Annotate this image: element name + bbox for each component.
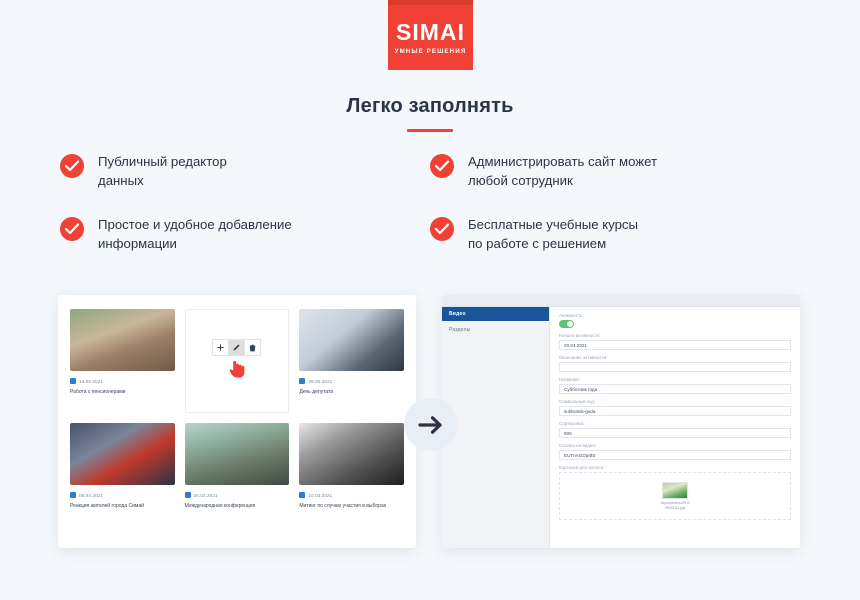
news-item[interactable]: 06.04.2021 Реакция жителей города Симай (70, 423, 175, 510)
news-thumbnail (70, 423, 175, 485)
news-date: 26.03.2021 (194, 493, 218, 498)
uploaded-image-thumbnail (662, 482, 688, 499)
news-date: 10.03.2021 (308, 493, 332, 498)
form-field-activity-start: Начало активности: 20.04.2021 (559, 333, 791, 350)
activity-start-input[interactable]: 20.04.2021 (559, 340, 791, 350)
news-title: День депутата (299, 389, 404, 396)
sort-input[interactable]: 500 (559, 428, 791, 438)
features-list: Публичный редактор данных Простое и удоб… (0, 152, 860, 267)
delete-item-button[interactable] (244, 339, 261, 356)
features-column-left: Публичный редактор данных Простое и удоб… (60, 152, 390, 279)
logo-tagline: УМНЫЕ РЕШЕНИЯ (395, 48, 467, 55)
news-item[interactable]: 26.03.2021 Международная конференция (185, 423, 290, 510)
news-date: 06.04.2021 (79, 493, 103, 498)
news-item[interactable]: 10.03.2021 Митинг по случаю участия в вы… (299, 423, 404, 510)
news-thumbnail (299, 423, 404, 485)
news-meta: 06.04.2021 (70, 492, 175, 498)
feature-label: Простое и удобное добавление информации (98, 215, 292, 253)
news-title: Работа с пенсионерами (70, 389, 175, 396)
title-underline (407, 129, 453, 132)
news-date: 14.06.2021 (79, 379, 103, 384)
feature-item: Простое и удобное добавление информации (60, 215, 390, 253)
feature-label: Администрировать сайт может любой сотруд… (468, 152, 657, 190)
news-meta: 10.03.2021 (299, 492, 404, 498)
calendar-icon (70, 492, 76, 498)
news-meta: 14.06.2021 (70, 378, 175, 384)
field-label: Ссылка на видео: (559, 443, 791, 448)
news-item[interactable]: 14.06.2021 Работа с пенсионерами (70, 309, 175, 413)
admin-toolbar (442, 295, 800, 307)
news-grid: 14.06.2021 Работа с пенсионерами (58, 295, 416, 524)
edit-item-button[interactable] (228, 339, 245, 356)
form-field-name: Название: Субботник года (559, 377, 791, 394)
news-title: Реакция жителей города Симай (70, 503, 175, 510)
form-field-video-link: Ссылка на видео: EUTnAGDp!B0 (559, 443, 791, 460)
feature-item: Публичный редактор данных (60, 152, 390, 190)
calendar-icon (299, 378, 305, 384)
field-label: Активность: (559, 313, 791, 318)
field-label: Сортировка: (559, 421, 791, 426)
edit-placeholder-cell (185, 309, 290, 413)
uploaded-file-name: deposiphotos199 iii 98391111.jpg (660, 501, 689, 510)
news-thumbnail (185, 423, 290, 485)
image-upload-dropzone[interactable]: deposiphotos199 iii 98391111.jpg (559, 472, 791, 520)
form-field-activity: Активность: (559, 313, 791, 328)
field-label: Название: (559, 377, 791, 382)
form-field-sort: Сортировка: 500 (559, 421, 791, 438)
form-field-code: Символьный код: subbotnik-goda (559, 399, 791, 416)
check-icon (430, 154, 454, 178)
calendar-icon (70, 378, 76, 384)
calendar-icon (299, 492, 305, 498)
feature-item: Администрировать сайт может любой сотруд… (430, 152, 760, 190)
sidebar-item-sections[interactable]: Разделы (442, 321, 549, 339)
news-thumbnail (299, 309, 404, 371)
check-icon (60, 154, 84, 178)
page-title: Легко заполнять (0, 95, 860, 118)
check-icon (60, 217, 84, 241)
page-root: SIMAI УМНЫЕ РЕШЕНИЯ Легко заполнять Публ… (0, 0, 860, 600)
brand-logo: SIMAI УМНЫЕ РЕШЕНИЯ (388, 0, 473, 70)
next-arrow-button[interactable] (404, 398, 457, 451)
symbolic-code-input[interactable]: subbotnik-goda (559, 406, 791, 416)
news-meta: 26.03.2021 (185, 492, 290, 498)
field-label: Картинка для анонса: (559, 465, 791, 470)
section-heading: Легко заполнять (0, 95, 860, 132)
check-icon (430, 217, 454, 241)
activity-toggle[interactable] (559, 320, 574, 328)
sidebar-item-video[interactable]: Видео (442, 307, 549, 321)
news-item[interactable]: 29.05.2021 День депутата (299, 309, 404, 413)
mouse-cursor-hand-icon (229, 359, 245, 383)
news-editor-screenshot: 14.06.2021 Работа с пенсионерами (58, 295, 416, 548)
admin-form: Активность: Начало активности: 20.04.202… (550, 307, 800, 548)
add-item-button[interactable] (212, 339, 229, 356)
news-title: Международная конференция (185, 503, 290, 510)
news-date: 29.05.2021 (308, 379, 332, 384)
feature-label: Публичный редактор данных (98, 152, 227, 190)
form-field-activity-end: Окончание активности: (559, 355, 791, 372)
news-title: Митинг по случаю участия в выборах (299, 503, 404, 510)
field-label: Окончание активности: (559, 355, 791, 360)
features-column-right: Администрировать сайт может любой сотруд… (430, 152, 760, 279)
arrow-right-icon (418, 414, 444, 436)
logo-wordmark: SIMAI (396, 21, 465, 44)
feature-label: Бесплатные учебные курсы по работе с реш… (468, 215, 638, 253)
feature-item: Бесплатные учебные курсы по работе с реш… (430, 215, 760, 253)
name-input[interactable]: Субботник года (559, 384, 791, 394)
form-field-announce-image: Картинка для анонса: deposiphotos199 iii… (559, 465, 791, 520)
news-item-edit-placeholder[interactable] (185, 309, 290, 413)
admin-sidebar: Видео Разделы (442, 307, 550, 548)
field-label: Символьный код: (559, 399, 791, 404)
item-edit-toolbar (213, 339, 261, 356)
field-label: Начало активности: (559, 333, 791, 338)
admin-panel-screenshot: Видео Разделы Активность: Начало активно… (442, 295, 800, 548)
calendar-icon (185, 492, 191, 498)
logo-box: SIMAI УМНЫЕ РЕШЕНИЯ (388, 0, 473, 70)
activity-end-input[interactable] (559, 362, 791, 372)
news-thumbnail (70, 309, 175, 371)
video-link-input[interactable]: EUTnAGDp!B0 (559, 450, 791, 460)
news-meta: 29.05.2021 (299, 378, 404, 384)
admin-body: Видео Разделы Активность: Начало активно… (442, 307, 800, 548)
